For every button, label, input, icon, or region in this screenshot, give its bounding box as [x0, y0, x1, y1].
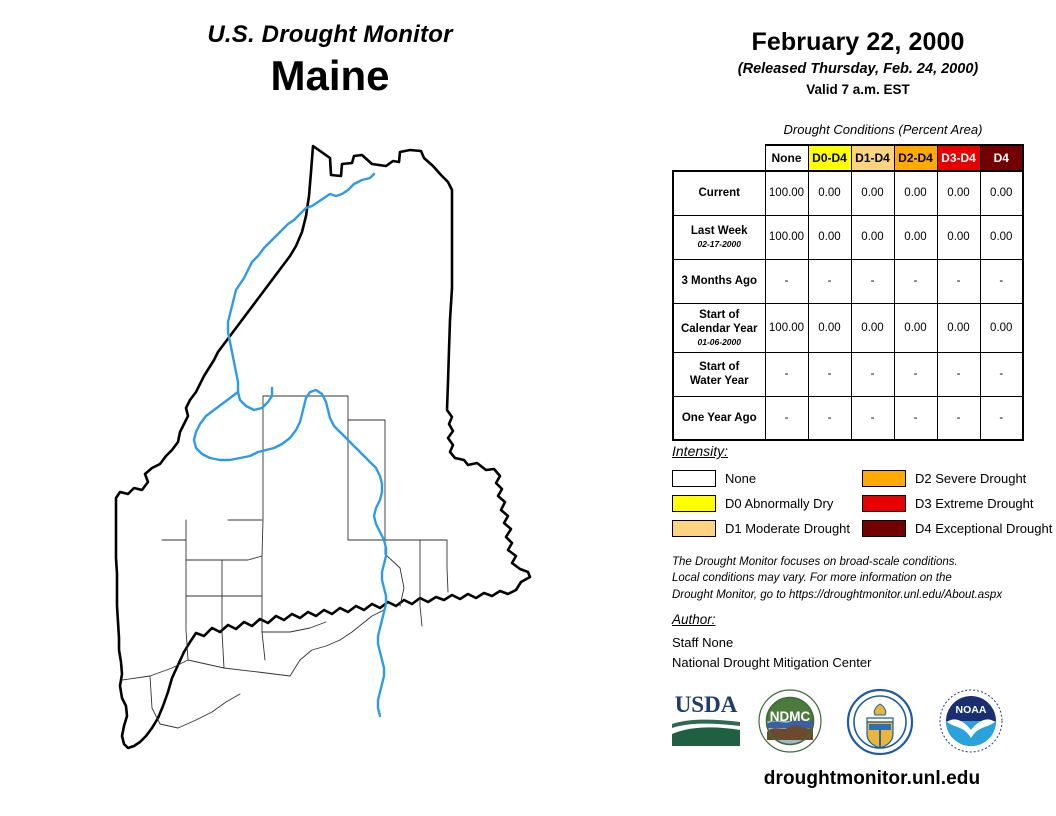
table-header-row: NoneD0-D4D1-D4D2-D4D3-D4D4: [673, 145, 1023, 171]
table-cell: -: [980, 396, 1023, 440]
map-panel: U.S. Drought Monitor Maine: [0, 0, 660, 816]
legend-item: D0 Abnormally Dry: [672, 491, 850, 516]
table-cell: -: [937, 259, 980, 303]
county-line-14: [178, 694, 240, 728]
noaa-logo[interactable]: NOAA: [937, 688, 1005, 759]
legend-swatch-d2: [862, 470, 906, 487]
legend-label: None: [725, 471, 756, 486]
table-cell: -: [894, 352, 937, 396]
released-line: (Released Thursday, Feb. 24, 2000): [660, 61, 1056, 77]
legend-column-right: D2 Severe DroughtD3 Extreme DroughtD4 Ex…: [862, 466, 1052, 541]
table-row: Current100.000.000.000.000.000.00: [673, 171, 1023, 215]
table-row: Start ofWater Year------: [673, 352, 1023, 396]
table-row-label: 3 Months Ago: [673, 259, 765, 303]
table-cell: 100.00: [765, 215, 808, 259]
table-row: 3 Months Ago------: [673, 259, 1023, 303]
usdc-seal-svg: [845, 688, 915, 756]
usda-swoosh-upper: [672, 720, 740, 728]
table-cell: 0.00: [894, 215, 937, 259]
table-col-header-d2-d4: D2-D4: [894, 145, 937, 171]
author-heading: Author:: [672, 612, 716, 627]
title-block: U.S. Drought Monitor Maine: [0, 22, 660, 101]
table-row: Start ofCalendar Year01-06-2000100.000.0…: [673, 303, 1023, 352]
legend-swatch-d3: [862, 495, 906, 512]
logo-strip: USDA NDMC: [660, 688, 1056, 764]
table-cell: 0.00: [851, 171, 894, 215]
disclaimer-line-1: The Drought Monitor focuses on broad-sca…: [672, 554, 1052, 570]
table-row-sublabel: 02-17-2000: [676, 239, 763, 250]
table-cell: -: [851, 259, 894, 303]
table-cell: 100.00: [765, 303, 808, 352]
date-block: February 22, 2000 (Released Thursday, Fe…: [660, 28, 1056, 97]
table-caption: Drought Conditions (Percent Area): [660, 122, 1056, 137]
legend-item: D3 Extreme Drought: [862, 491, 1052, 516]
table-row-label: Last Week02-17-2000: [673, 215, 765, 259]
map-svg: [0, 120, 660, 810]
table-row-label: Start ofWater Year: [673, 352, 765, 396]
legend-column-left: NoneD0 Abnormally DryD1 Moderate Drought: [672, 466, 850, 541]
usda-wordmark: USDA: [675, 692, 738, 717]
table-row-label: Current: [673, 171, 765, 215]
table-cell: 100.00: [765, 171, 808, 215]
legend-item: D2 Severe Drought: [862, 466, 1052, 491]
disclaimer-line-3: Drought Monitor, go to https://droughtmo…: [672, 587, 1052, 603]
table-row: One Year Ago------: [673, 396, 1023, 440]
table-cell: -: [937, 352, 980, 396]
intensity-heading: Intensity:: [672, 443, 728, 459]
legend-item: D1 Moderate Drought: [672, 516, 850, 541]
table-row-sublabel: 01-06-2000: [676, 337, 763, 348]
table-cell: 0.00: [851, 215, 894, 259]
table-cell: 0.00: [808, 215, 851, 259]
state-outline-group: [116, 146, 530, 748]
table-cell: -: [980, 259, 1023, 303]
usda-hill: [672, 727, 740, 746]
legend-label: D3 Extreme Drought: [915, 496, 1034, 511]
table-col-header-d4: D4: [980, 145, 1023, 171]
monitor-title: U.S. Drought Monitor: [0, 22, 660, 48]
ndmc-wordmark: NDMC: [770, 709, 811, 724]
table-cell: 0.00: [937, 171, 980, 215]
table-body: Current100.000.000.000.000.000.00Last We…: [673, 171, 1023, 440]
table-col-header-d3-d4: D3-D4: [937, 145, 980, 171]
info-panel: February 22, 2000 (Released Thursday, Fe…: [660, 0, 1056, 816]
table-cell: 0.00: [808, 171, 851, 215]
maine-drought-map[interactable]: [0, 120, 660, 810]
table-cell: -: [937, 396, 980, 440]
table-cell: -: [765, 352, 808, 396]
release-date: February 22, 2000: [660, 28, 1056, 57]
noaa-wordmark: NOAA: [956, 704, 987, 716]
disclaimer-line-2: Local conditions may vary. For more info…: [672, 570, 1052, 586]
table-cell: 0.00: [851, 303, 894, 352]
table-cell: 0.00: [894, 171, 937, 215]
table-cell: -: [808, 352, 851, 396]
table-cell: 0.00: [980, 303, 1023, 352]
legend-label: D1 Moderate Drought: [725, 521, 850, 536]
table-cell: -: [765, 396, 808, 440]
ndmc-logo-svg: NDMC: [756, 688, 824, 754]
county-line-11: [188, 660, 290, 676]
site-url[interactable]: droughtmonitor.unl.edu: [660, 768, 1056, 790]
usdc-seal[interactable]: [845, 688, 915, 761]
legend-swatch-d4: [862, 520, 906, 537]
table-cell: -: [894, 396, 937, 440]
table-cell: 0.00: [937, 215, 980, 259]
table-col-header-none: None: [765, 145, 808, 171]
table-col-header-d0-d4: D0-D4: [808, 145, 851, 171]
valid-line: Valid 7 a.m. EST: [660, 82, 1056, 97]
table-cell: 0.00: [894, 303, 937, 352]
table-cell: 0.00: [937, 303, 980, 352]
legend-label: D2 Severe Drought: [915, 471, 1026, 486]
table-row: Last Week02-17-2000100.000.000.000.000.0…: [673, 215, 1023, 259]
table-cell: 0.00: [980, 215, 1023, 259]
table-cell: -: [851, 396, 894, 440]
usda-logo-svg: USDA: [668, 688, 744, 750]
table-cell: -: [851, 352, 894, 396]
table-cell: -: [765, 259, 808, 303]
table-corner-cell: [673, 145, 765, 171]
table-cell: -: [808, 396, 851, 440]
table-cell: -: [894, 259, 937, 303]
noaa-logo-svg: NOAA: [937, 688, 1005, 754]
legend-swatch-d1: [672, 520, 716, 537]
legend-label: D0 Abnormally Dry: [725, 496, 833, 511]
table-row-label: Start ofCalendar Year01-06-2000: [673, 303, 765, 352]
table-cell: 0.00: [980, 171, 1023, 215]
author-name: Staff None: [672, 633, 871, 653]
legend-item: None: [672, 466, 850, 491]
county-line-15: [290, 640, 340, 676]
table-cell: -: [808, 259, 851, 303]
ndmc-logo[interactable]: NDMC: [756, 688, 824, 759]
state-title: Maine: [0, 52, 660, 100]
legend-swatch-none: [672, 470, 716, 487]
table-row-label: One Year Ago: [673, 396, 765, 440]
drought-conditions-table: NoneD0-D4D1-D4D2-D4D3-D4D4 Current100.00…: [672, 144, 1024, 441]
table-cell: -: [980, 352, 1023, 396]
table-header: NoneD0-D4D1-D4D2-D4D3-D4D4: [673, 145, 1023, 171]
usda-logo[interactable]: USDA: [668, 688, 744, 755]
table-cell: 0.00: [808, 303, 851, 352]
county-line-17: [262, 622, 326, 632]
maine-state-outline: [116, 146, 530, 748]
usdc-shield-band: [869, 724, 891, 730]
legend-item: D4 Exceptional Drought: [862, 516, 1052, 541]
author-organization: National Drought Mitigation Center: [672, 653, 871, 673]
legend-label: D4 Exceptional Drought: [915, 521, 1052, 536]
table-col-header-d1-d4: D1-D4: [851, 145, 894, 171]
disclaimer: The Drought Monitor focuses on broad-sca…: [672, 554, 1052, 603]
legend-swatch-d0: [672, 495, 716, 512]
author-block: Staff None National Drought Mitigation C…: [672, 633, 871, 672]
